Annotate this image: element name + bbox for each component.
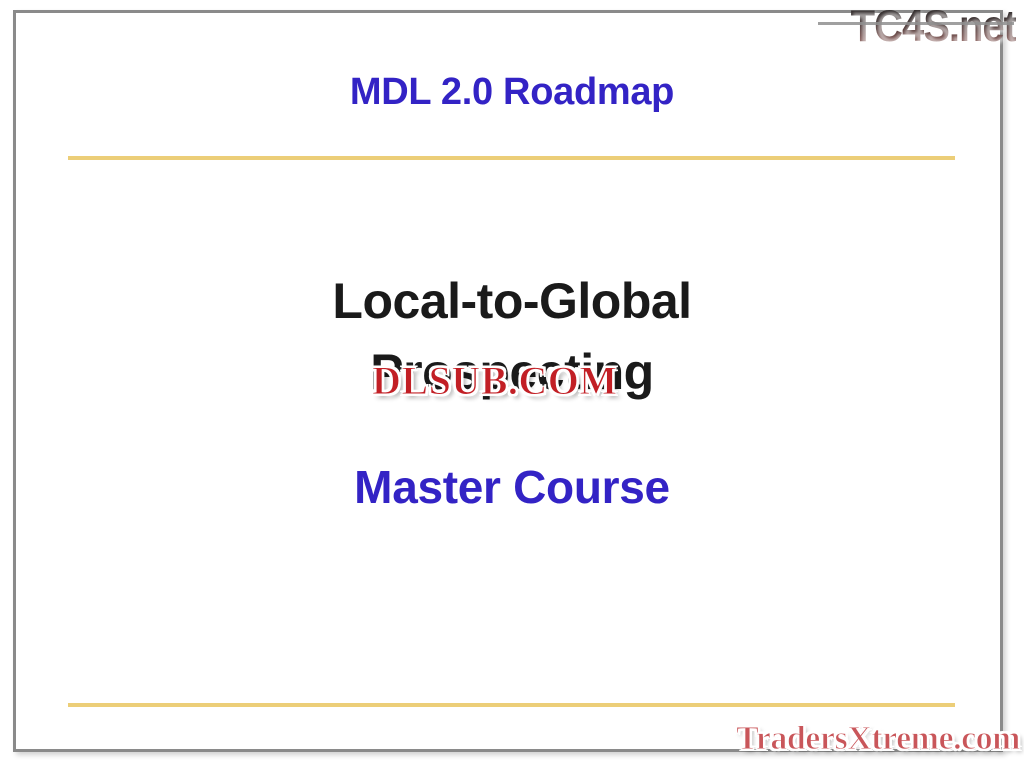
divider-rule-top	[68, 156, 955, 160]
body-line-local-to-global: Local-to-Global	[0, 266, 1024, 337]
divider-rule-bottom	[68, 703, 955, 707]
watermark-tc4s: TC4S.net	[851, 2, 1016, 52]
watermark-dlsub: DLSUB.COM	[372, 357, 618, 404]
watermark-tradersxtreme: TradersXtreme.com	[736, 720, 1020, 758]
slide-subtitle: Master Course	[0, 460, 1024, 515]
watermark-tc4s-strikethrough	[818, 22, 1014, 25]
page-title: MDL 2.0 Roadmap	[0, 72, 1024, 114]
